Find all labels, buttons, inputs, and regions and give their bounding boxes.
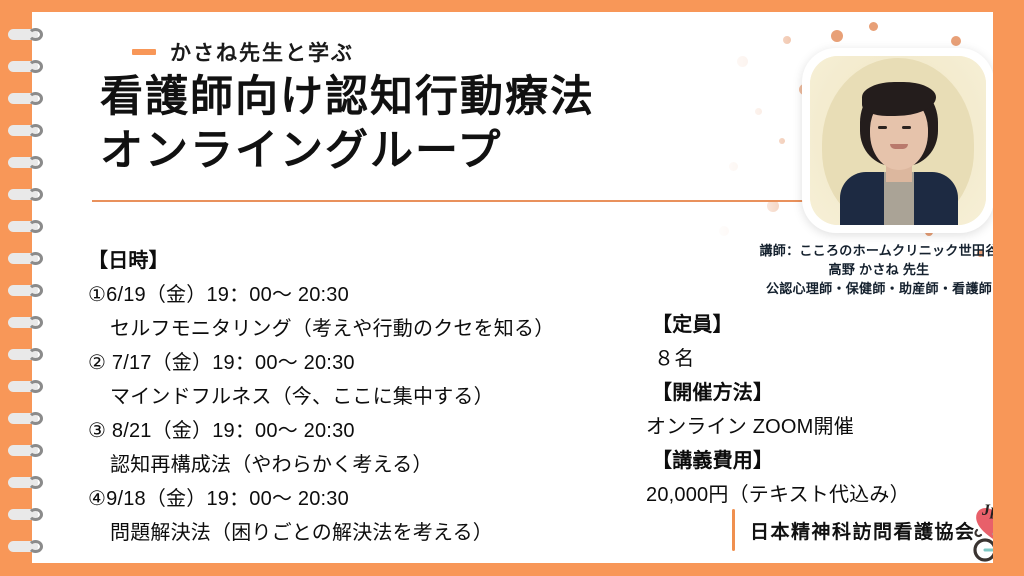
instructor-photo [802,48,993,233]
logo-text: Jphn [982,502,993,520]
session-topic: 認知再構成法（やわらかく考える） [88,448,554,482]
credential-line-1: 講師：こころのホームクリニック世田谷 [732,241,993,260]
session-topic: マインドフルネス（今、ここに集中する） [88,380,554,414]
page-sheet: かさね先生と学ぶ 看護師向け認知行動療法 オンライングループ [32,12,993,563]
session-datetime: ①6/19（金）19：00〜 20:30 [88,278,554,312]
fee-value: 20,000円（テキスト代込み） [644,478,910,512]
session-topic: セルフモニタリング（考えや行動のクセを知る） [88,312,554,346]
capacity-label: 【定員】 [644,308,910,342]
kicker-line: かさね先生と学ぶ [132,37,354,67]
title-line-1: 看護師向け認知行動療法 [100,70,595,124]
info-block: 【定員】 ８名 【開催方法】 オンライン ZOOM開催 【講義費用】 20,00… [644,308,910,512]
page-title: 看護師向け認知行動療法 オンライングループ [100,70,595,178]
method-value: オンライン ZOOM開催 [644,410,910,444]
session-topic: 問題解決法（困りごとの解決法を考える） [88,516,554,550]
logo-artwork [964,490,993,563]
title-line-2: オンライングループ [100,124,595,178]
session-datetime: ② 7/17（金）19：00〜 20:30 [88,346,554,380]
organization-name: 日本精神科訪問看護協会 [750,517,976,544]
fee-label: 【講義費用】 [644,444,910,478]
session-datetime: ④9/18（金）19：00〜 20:30 [88,482,554,516]
dash-icon [132,49,156,55]
capacity-value: ８名 [644,342,910,376]
jphn-logo: Jphn [964,490,993,563]
kicker-text: かさね先生と学ぶ [170,37,354,67]
flyer-poster: かさね先生と学ぶ 看護師向け認知行動療法 オンライングループ [0,0,1024,576]
method-label: 【開催方法】 [644,376,910,410]
session-datetime: ③ 8/21（金）19：00〜 20:30 [88,414,554,448]
credential-line-3: 公認心理師・保健師・助産師・看護師 [732,279,993,298]
accent-bar [732,509,735,551]
instructor-photo-image [810,56,986,225]
instructor-credentials: 講師：こころのホームクリニック世田谷 高野 かさね 先生 公認心理師・保健師・助… [732,241,993,298]
schedule-block: 【日時】 ①6/19（金）19：00〜 20:30 セルフモニタリング（考えや行… [88,244,554,550]
organization-footer: 日本精神科訪問看護協会 [732,509,976,551]
credential-line-2: 高野 かさね 先生 [732,260,993,279]
schedule-heading: 【日時】 [88,244,554,278]
